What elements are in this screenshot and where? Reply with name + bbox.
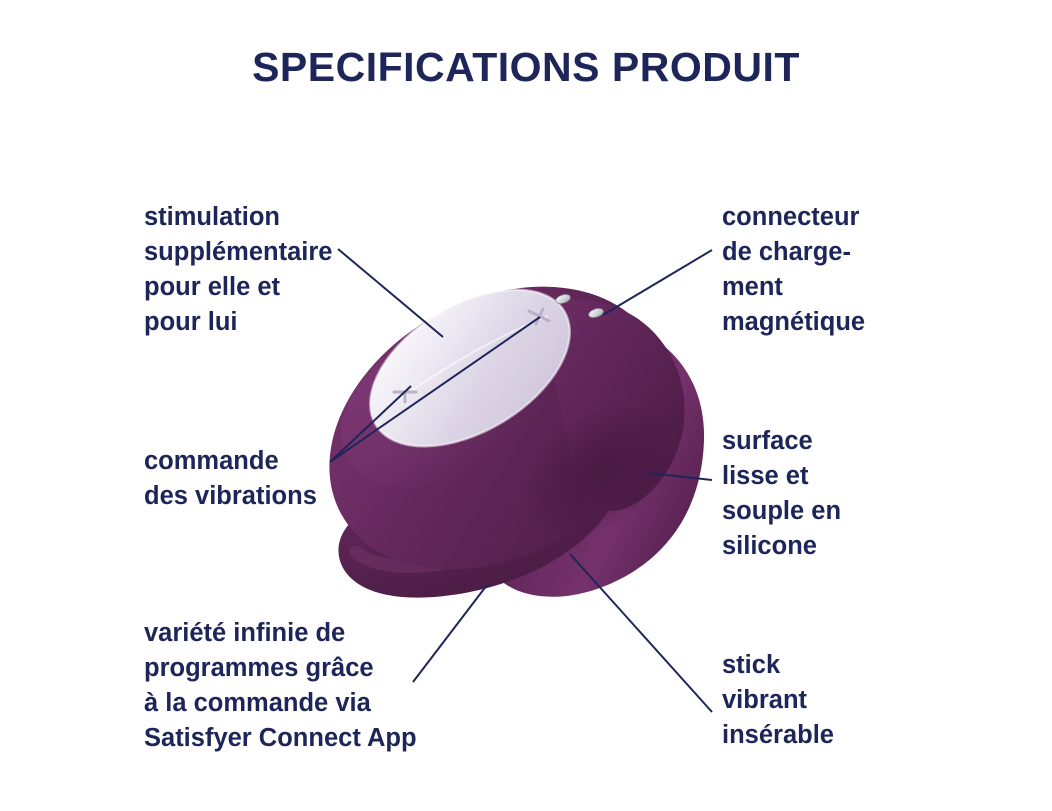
leader-line-variete	[413, 585, 487, 682]
callout-stimulation-line-3: pour elle et	[144, 270, 332, 305]
callout-commande-line-2: des vibrations	[144, 479, 317, 514]
callout-connecteur: connecteur de charge- ment magnétique	[722, 200, 865, 340]
callout-stimulation-line-1: stimulation	[144, 200, 332, 235]
callout-variete-line-4: Satisfyer Connect App	[144, 721, 417, 756]
callout-stick-line-1: stick	[722, 648, 834, 683]
callout-surface-line-3: souple en	[722, 494, 841, 529]
callout-variete-line-1: variété infinie de	[144, 616, 417, 651]
callout-surface-line-4: silicone	[722, 529, 841, 564]
callout-connecteur-line-2: de charge-	[722, 235, 865, 270]
callout-stick-line-2: vibrant	[722, 683, 834, 718]
leader-line-stick	[570, 554, 712, 712]
callout-connecteur-line-3: ment	[722, 270, 865, 305]
callout-stick: stick vibrant insérable	[722, 648, 834, 753]
callout-variete-line-3: à la commande via	[144, 686, 417, 721]
leader-line-connecteur	[603, 250, 712, 315]
callout-variete: variété infinie de programmes grâce à la…	[144, 616, 417, 756]
callout-connecteur-line-1: connecteur	[722, 200, 865, 235]
callout-stimulation-line-2: supplémentaire	[144, 235, 332, 270]
callout-connecteur-line-4: magnétique	[722, 305, 865, 340]
callout-stimulation-line-4: pour lui	[144, 305, 332, 340]
product-specifications-diagram: SPECIFICATIONS PRODUIT	[0, 0, 1052, 811]
callout-surface-line-1: surface	[722, 424, 841, 459]
callout-stimulation: stimulation supplémentaire pour elle et …	[144, 200, 332, 340]
leader-line-stimulation	[338, 249, 443, 337]
callout-surface-line-2: lisse et	[722, 459, 841, 494]
callout-surface: surface lisse et souple en silicone	[722, 424, 841, 564]
callout-commande-line-1: commande	[144, 444, 317, 479]
callout-variete-line-2: programmes grâce	[144, 651, 417, 686]
callout-stick-line-3: insérable	[722, 718, 834, 753]
device-body	[279, 230, 714, 626]
callout-commande: commande des vibrations	[144, 444, 317, 514]
